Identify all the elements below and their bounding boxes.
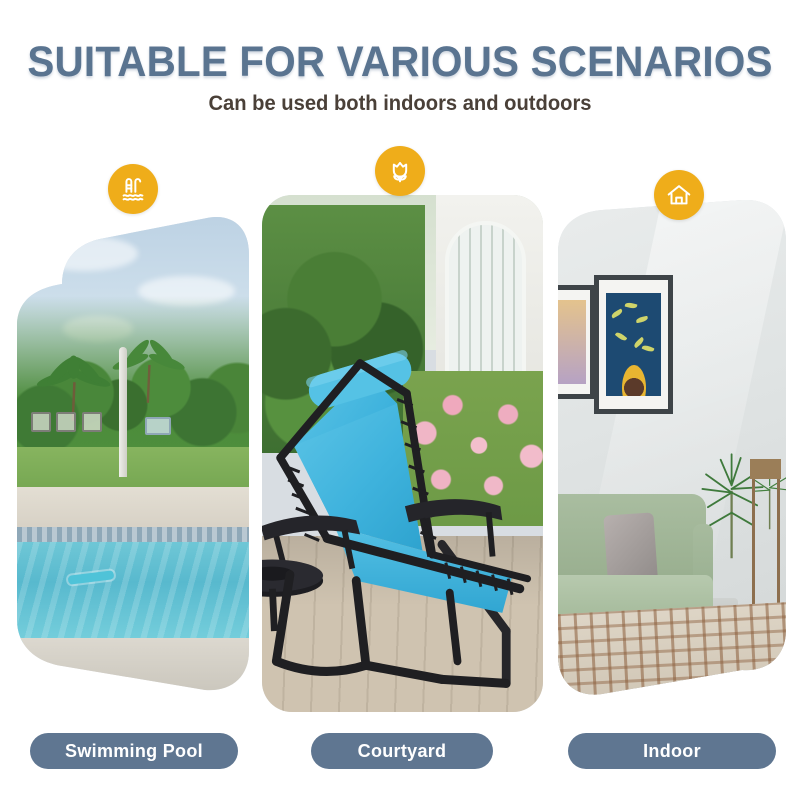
caption-label: Courtyard — [358, 741, 447, 762]
caption-label: Indoor — [643, 741, 701, 762]
courtyard-photo — [262, 195, 543, 712]
leaf — [615, 331, 628, 342]
indoor-photo — [558, 200, 786, 698]
scene-panel-swimming-pool[interactable] — [17, 196, 249, 698]
wall-art-frame — [594, 275, 672, 414]
page-title: SUITABLE FOR VARIOUS SCENARIOS — [24, 38, 776, 87]
wall-art-frame — [558, 285, 595, 400]
sun-motif — [622, 365, 646, 396]
leaf — [624, 302, 637, 310]
pool-deck — [17, 487, 249, 532]
artwork — [558, 300, 586, 384]
pool-ladder-icon — [108, 164, 158, 214]
zero-gravity-chair — [262, 329, 543, 712]
caption-courtyard[interactable]: Courtyard — [311, 733, 493, 769]
plant-stand-shelf — [750, 459, 782, 479]
house-icon — [654, 170, 704, 220]
caption-indoor[interactable]: Indoor — [568, 733, 776, 769]
page-subtitle: Can be used both indoors and outdoors — [16, 92, 784, 116]
lounge-chair — [145, 417, 171, 435]
caption-swimming-pool[interactable]: Swimming Pool — [30, 733, 238, 769]
area-rug — [558, 601, 786, 698]
scene-panel-courtyard[interactable] — [262, 195, 543, 712]
swimming-pool-photo — [17, 196, 249, 698]
cloud — [31, 236, 138, 271]
pool-apron — [17, 638, 249, 698]
patio-chair — [82, 412, 102, 432]
leaf — [635, 316, 648, 324]
product-feature-banner: SUITABLE FOR VARIOUS SCENARIOS Can be us… — [0, 0, 800, 800]
leaf — [642, 344, 655, 353]
pool-water — [17, 542, 249, 642]
caption-label: Swimming Pool — [65, 741, 203, 762]
side-tray-table — [262, 560, 323, 631]
sunflower-artwork — [606, 293, 661, 397]
tulip-flower-icon — [375, 146, 425, 196]
patio-chair — [56, 412, 76, 432]
leaf — [610, 309, 623, 319]
patio-chair — [31, 412, 51, 432]
scene-panel-indoor[interactable] — [558, 200, 786, 698]
patio-umbrella — [119, 347, 127, 478]
